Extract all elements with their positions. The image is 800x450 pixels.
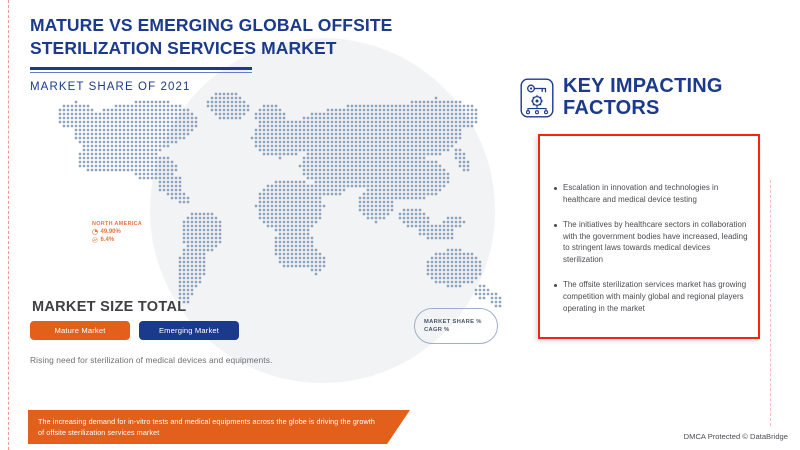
legend-button-mature-market[interactable]: Mature Market <box>30 321 130 340</box>
title-rule-thick <box>30 67 252 70</box>
key-factors-panel: Escalation in innovation and technologie… <box>538 134 760 339</box>
footer-copyright: DMCA Protected © DataBridge <box>684 432 788 441</box>
key-factors-header: Key Impacting Factors <box>520 76 723 119</box>
bottom-banner: The increasing demand for in-vitro tests… <box>28 410 410 444</box>
bullet-dot-icon <box>554 224 557 227</box>
callout-market-share-row: 49.90% <box>92 229 142 235</box>
bullet-dot-icon <box>554 284 557 287</box>
key-factor-text: Escalation in innovation and technologie… <box>563 182 748 206</box>
bottom-banner-text: The increasing demand for in-vitro tests… <box>28 416 410 438</box>
north-america-callout: North America 49.90% 6.4% <box>92 221 142 243</box>
key-factor-text: The initiatives by healthcare sectors in… <box>563 219 748 266</box>
pie-chart-icon <box>92 229 98 235</box>
legend-button-emerging-market[interactable]: Emerging Market <box>139 321 239 340</box>
market-size-caption: Rising need for sterilization of medical… <box>30 355 272 365</box>
metric-legend-cagr: CAGR % <box>424 327 497 333</box>
growth-arrow-icon <box>92 237 98 243</box>
callout-cagr-row: 6.4% <box>92 237 142 243</box>
metric-legend-market-share: MARKET SHARE % <box>424 319 497 325</box>
page-title: Mature vs Emerging Global Offsite Steril… <box>30 14 500 60</box>
header-block: Mature vs Emerging Global Offsite Steril… <box>30 14 500 93</box>
left-dashed-guide <box>8 0 9 450</box>
title-rule-thin <box>30 72 252 73</box>
metric-legend: MARKET SHARE % CAGR % <box>414 308 498 344</box>
key-factors-title-line2: Factors <box>563 98 723 120</box>
callout-cagr-value: 6.4% <box>101 237 115 243</box>
title-underline <box>30 67 252 73</box>
bullet-dot-icon <box>554 187 557 190</box>
list-item: The offsite sterilization services marke… <box>554 279 748 315</box>
world-map-dots <box>58 86 528 326</box>
infographic-canvas: Mature vs Emerging Global Offsite Steril… <box>0 0 800 450</box>
callout-region-label: North America <box>92 221 142 227</box>
key-factors-title-line1: Key Impacting <box>563 76 723 98</box>
world-map <box>58 86 528 326</box>
list-item: The initiatives by healthcare sectors in… <box>554 219 748 266</box>
key-factors-title: Key Impacting Factors <box>563 76 723 119</box>
key-network-icon <box>520 78 554 118</box>
right-dashed-guide <box>770 180 771 426</box>
key-factors-list: Escalation in innovation and technologie… <box>540 136 758 315</box>
callout-market-share-value: 49.90% <box>101 229 121 235</box>
market-legend-buttons: Mature Market Emerging Market <box>30 321 239 340</box>
key-factor-text: The offsite sterilization services marke… <box>563 279 748 315</box>
list-item: Escalation in innovation and technologie… <box>554 182 748 206</box>
market-size-heading: Market Size Total <box>32 299 186 315</box>
